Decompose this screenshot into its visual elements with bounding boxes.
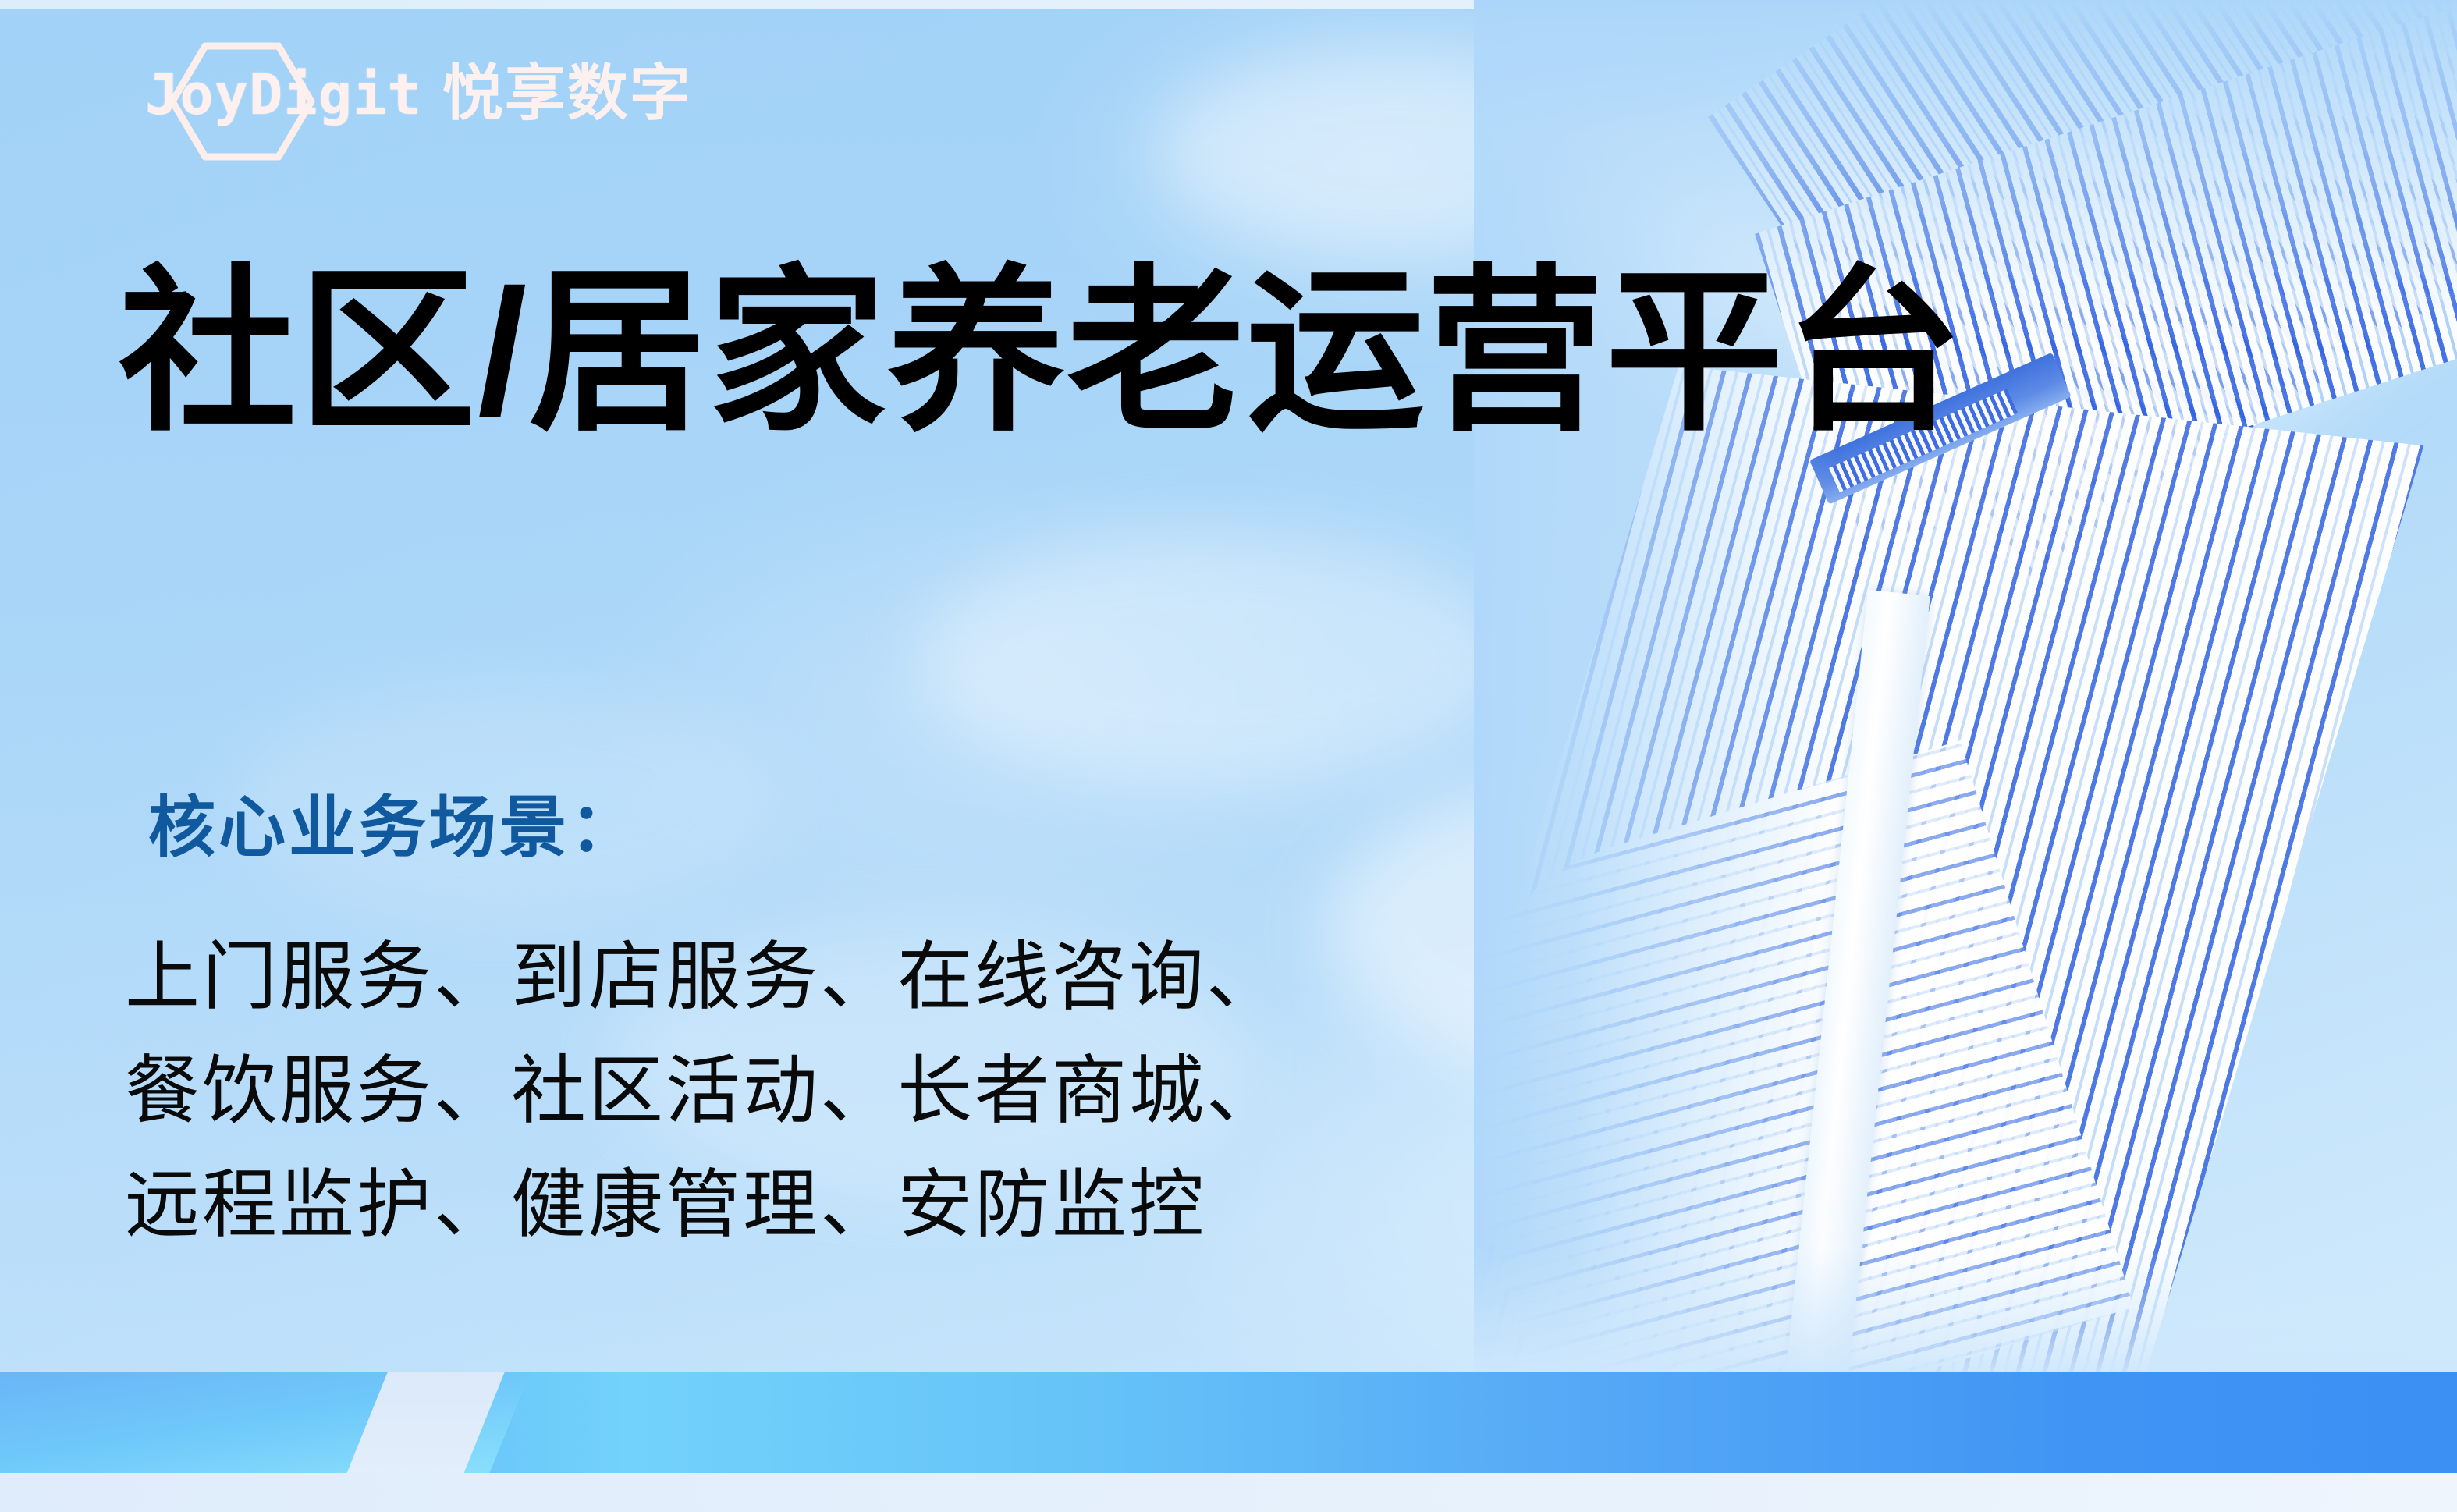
slide-canvas: JoyDigit 悦享数字 社区/居家养老运营平台 核心业务场景： 上门服务、到… <box>0 0 2457 1512</box>
brand-logo[interactable]: JoyDigit 悦享数字 <box>139 36 692 130</box>
brand-logo-chinese: 悦享数字 <box>442 62 692 123</box>
page-title: 社区/居家养老运营平台 <box>119 259 1964 448</box>
section-heading: 核心业务场景： <box>148 772 640 870</box>
scenario-line: 上门服务、到店服务、在线咨询、 <box>125 921 1284 1035</box>
band-base-strip <box>0 1473 2457 1512</box>
bottom-decor-band <box>0 1372 2457 1512</box>
top-accent-strip <box>0 0 2457 9</box>
scenario-list: 上门服务、到店服务、在线咨询、 餐饮服务、社区活动、长者商城、 远程监护、健康管… <box>125 921 1284 1262</box>
brand-logo-text: JoyDigit 悦享数字 <box>139 62 692 123</box>
scenario-line: 餐饮服务、社区活动、长者商城、 <box>125 1035 1284 1148</box>
sky-left-wash <box>0 9 1523 1512</box>
brand-logo-latin: JoyDigit <box>145 66 422 122</box>
scenario-line: 远程监护、健康管理、安防监控 <box>125 1148 1284 1262</box>
